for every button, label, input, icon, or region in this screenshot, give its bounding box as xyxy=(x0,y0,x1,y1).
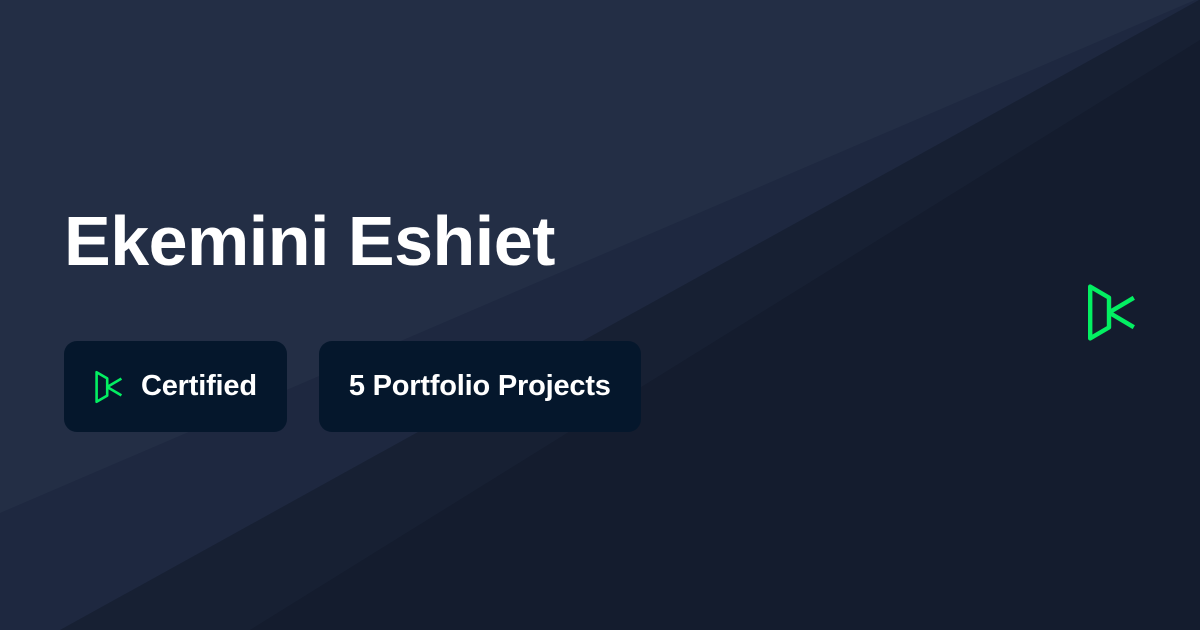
profile-share-card: Ekemini Eshiet Certified 5 Portfolio Pro… xyxy=(0,0,1200,630)
datacamp-logo-icon xyxy=(94,370,124,404)
page-title: Ekemini Eshiet xyxy=(64,198,555,284)
badge-label: 5 Portfolio Projects xyxy=(349,370,611,403)
status-badge-portfolio-projects: 5 Portfolio Projects xyxy=(319,341,641,432)
datacamp-logo-icon xyxy=(1086,283,1138,342)
badge-group: Certified 5 Portfolio Projects xyxy=(64,341,641,432)
background-diagonal-bands xyxy=(0,0,1200,630)
status-badge-certified: Certified xyxy=(64,341,287,432)
badge-label: Certified xyxy=(141,370,257,403)
